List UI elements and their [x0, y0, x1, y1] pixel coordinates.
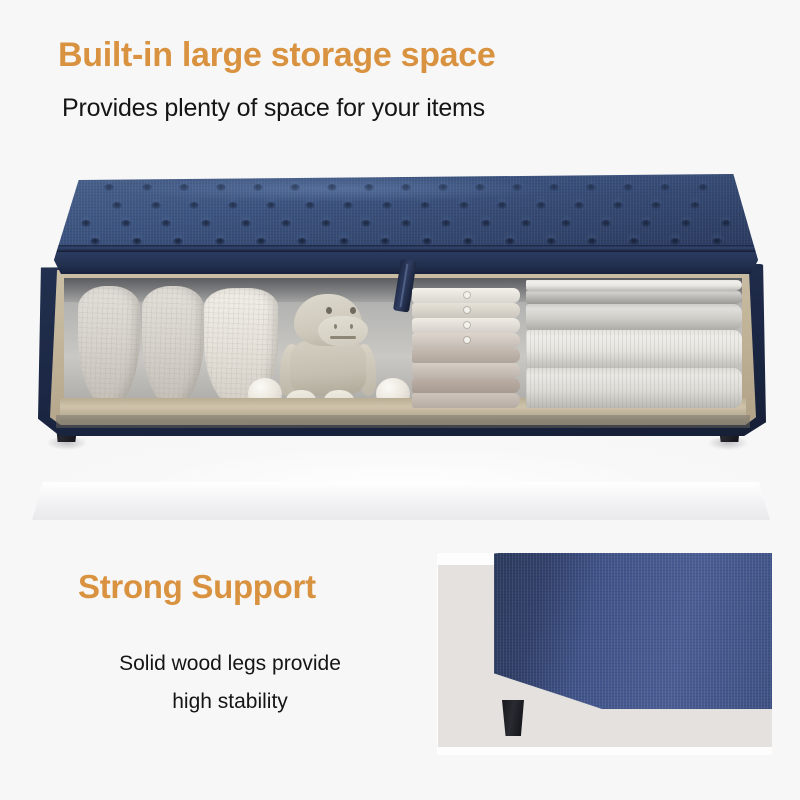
- page-subtitle: Provides plenty of space for your items: [62, 94, 485, 123]
- product-photo-inset-legs: [437, 553, 772, 755]
- subtext-line-2: high stability: [80, 683, 380, 721]
- plush-dinosaur-toy: [278, 294, 378, 408]
- folded-clothes-stack: [412, 284, 520, 408]
- subtext-line-1: Solid wood legs provide: [80, 645, 380, 683]
- pillow: [142, 286, 204, 408]
- product-feature-page: Built-in large storage space Provides pl…: [0, 0, 800, 800]
- pillow: [78, 286, 140, 408]
- floor-reflection: [32, 482, 770, 520]
- folded-towel-stack: [526, 282, 742, 408]
- bench-deck-shadow: [56, 415, 750, 428]
- inset-bench-corner-fabric: [494, 553, 772, 709]
- page-title: Built-in large storage space: [58, 36, 496, 75]
- section-title-strong-support: Strong Support: [78, 568, 316, 606]
- product-photo-main: [20, 160, 782, 550]
- inset-bench-leg-back: [502, 700, 524, 736]
- section-subtitle-strong-support: Solid wood legs provide high stability: [80, 645, 380, 721]
- inset-bottom-border: [438, 747, 772, 755]
